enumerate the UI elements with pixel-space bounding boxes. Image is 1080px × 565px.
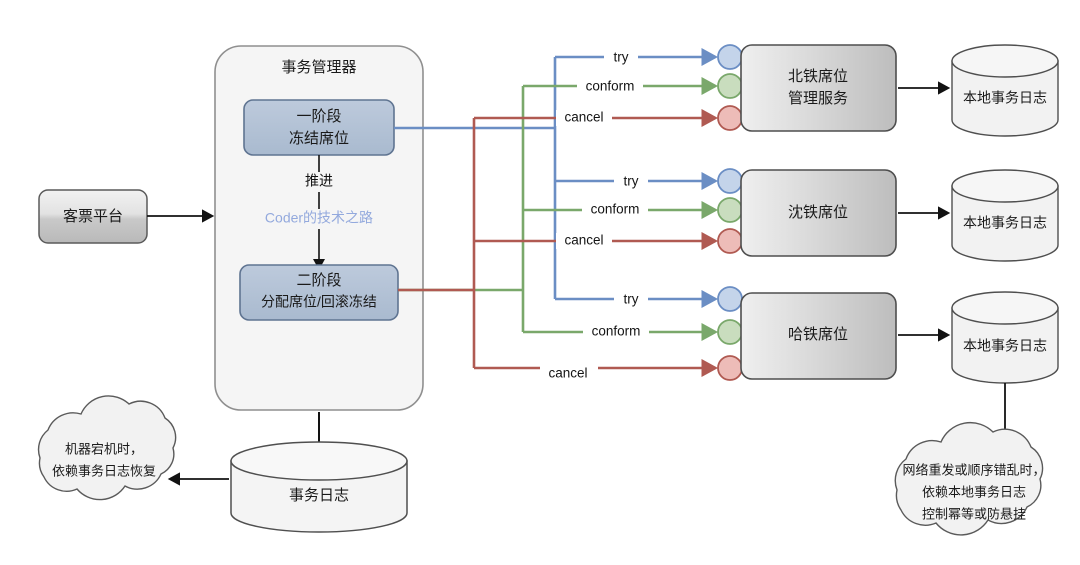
watermark-label: Coder的技术之路: [265, 210, 373, 226]
transaction-log-label: 事务日志: [289, 487, 349, 504]
service-3-db-cylinder: 本地事务日志: [952, 292, 1058, 383]
edge-label-conform-2: conform: [591, 202, 640, 217]
service-1-label-line2: 管理服务: [788, 90, 848, 107]
service-box-1[interactable]: 北铁席位 管理服务: [741, 45, 896, 131]
port-conform-svc2[interactable]: [718, 198, 742, 222]
service-connector-ports: [718, 45, 742, 380]
stage-one-label-line2: 冻结席位: [289, 129, 349, 147]
push-label: 推进: [305, 173, 333, 189]
diagram-canvas: 事务管理器 一阶段 冻结席位 推进 Coder的技术之路 二阶段 分配席位/回滚…: [0, 0, 1080, 565]
note-right-line2: 依赖本地事务日志: [922, 484, 1026, 499]
service-box-3[interactable]: 哈铁席位: [741, 293, 896, 379]
service-3-db-label: 本地事务日志: [963, 338, 1047, 354]
service-2-db-label: 本地事务日志: [963, 215, 1047, 231]
ticket-platform-label: 客票平台: [63, 208, 123, 225]
ticket-platform-box[interactable]: 客票平台: [39, 190, 147, 243]
edge-label-cancel-3: cancel: [548, 366, 587, 381]
edge-label-try-3: try: [624, 292, 639, 307]
stage-one-label-line1: 一阶段: [296, 108, 341, 125]
service-1-db-label: 本地事务日志: [963, 90, 1047, 106]
service-3-label-line1: 哈铁席位: [788, 326, 848, 343]
service-1-label-line1: 北铁席位: [788, 68, 848, 85]
edge-label-try-2: try: [624, 174, 639, 189]
service-2-label-line1: 沈铁席位: [788, 204, 848, 221]
transaction-log-cylinder: 事务日志: [231, 442, 407, 532]
service-2-db-cylinder: 本地事务日志: [952, 170, 1058, 261]
port-cancel-svc1[interactable]: [718, 106, 742, 130]
note-right-line3: 控制幂等或防悬挂: [922, 506, 1026, 521]
edge-label-cancel-1: cancel: [564, 110, 603, 125]
port-try-svc2[interactable]: [718, 169, 742, 193]
edge-label-conform-3: conform: [592, 324, 641, 339]
stage-two-label-line1: 二阶段: [296, 272, 341, 289]
port-try-svc1[interactable]: [718, 45, 742, 69]
port-try-svc3[interactable]: [718, 287, 742, 311]
edge-label-conform-1: conform: [586, 79, 635, 94]
edge-label-try-1: try: [614, 50, 629, 65]
transaction-manager-title: 事务管理器: [281, 59, 356, 76]
port-conform-svc1[interactable]: [718, 74, 742, 98]
port-cancel-svc2[interactable]: [718, 229, 742, 253]
note-left-line1: 机器宕机时，: [65, 441, 143, 456]
note-cloud-left: 机器宕机时， 依赖事务日志恢复: [39, 396, 176, 500]
stage-two-label-line2: 分配席位/回滚冻结: [261, 294, 377, 310]
stage-one-box[interactable]: 一阶段 冻结席位: [244, 100, 394, 155]
edge-label-cancel-2: cancel: [564, 233, 603, 248]
port-conform-svc3[interactable]: [718, 320, 742, 344]
service-box-2[interactable]: 沈铁席位: [741, 170, 896, 256]
note-left-line2: 依赖事务日志恢复: [52, 463, 156, 478]
service-1-db-cylinder: 本地事务日志: [952, 45, 1058, 136]
stage-two-box[interactable]: 二阶段 分配席位/回滚冻结: [240, 265, 398, 320]
try-edges-blue: [394, 57, 715, 299]
note-cloud-right: 网络重发或顺序错乱时， 依赖本地事务日志 控制幂等或防悬挂: [895, 423, 1045, 535]
note-right-line1: 网络重发或顺序错乱时，: [902, 462, 1045, 477]
port-cancel-svc3[interactable]: [718, 356, 742, 380]
tcc-transaction-diagram: 事务管理器 一阶段 冻结席位 推进 Coder的技术之路 二阶段 分配席位/回滚…: [0, 0, 1080, 565]
